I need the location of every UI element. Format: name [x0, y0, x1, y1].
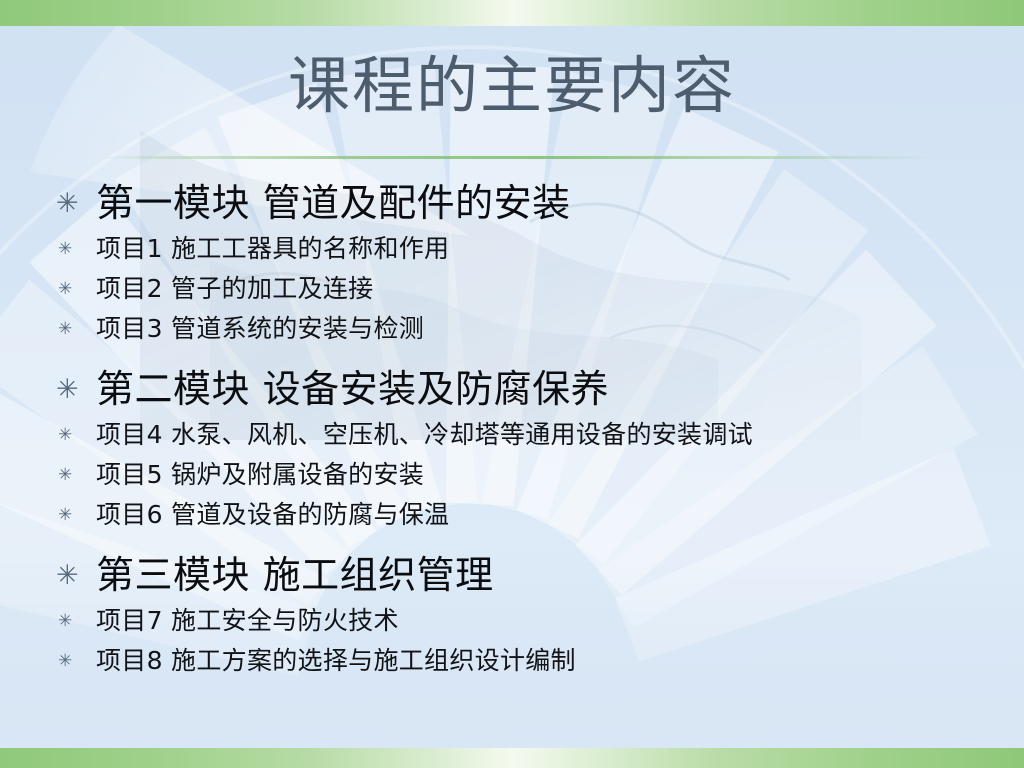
asterisk-bullet-icon: ✳ — [58, 653, 96, 670]
asterisk-bullet-icon: ✳ — [58, 281, 96, 298]
project-item-text: 项目7 施工安全与防火技术 — [96, 602, 399, 640]
asterisk-bullet-icon: ✳ — [58, 467, 96, 484]
project-item-text: 项目6 管道及设备的防腐与保温 — [96, 496, 449, 534]
module-heading-text: 第二模块 设备安装及防腐保养 — [96, 364, 609, 414]
project-item-text: 项目3 管道系统的安装与检测 — [96, 310, 424, 348]
project-item-text: 项目5 锅炉及附属设备的安装 — [96, 456, 424, 494]
project-item-row[interactable]: ✳ 项目5 锅炉及附属设备的安装 — [0, 456, 1024, 496]
module-heading-text: 第一模块 管道及配件的安装 — [96, 178, 571, 228]
module-heading-text: 第三模块 施工组织管理 — [96, 550, 494, 600]
outline-list: ✳ 第一模块 管道及配件的安装 ✳ 项目1 施工工器具的名称和作用 ✳ 项目2 … — [0, 178, 1024, 682]
asterisk-bullet-icon: ✳ — [58, 241, 96, 258]
project-item-row[interactable]: ✳ 项目4 水泵、风机、空压机、冷却塔等通用设备的安装调试 — [0, 416, 1024, 456]
project-item-row[interactable]: ✳ 项目2 管子的加工及连接 — [0, 270, 1024, 310]
asterisk-bullet-icon: ✳ — [58, 427, 96, 444]
project-item-row[interactable]: ✳ 项目8 施工方案的选择与施工组织设计编制 — [0, 642, 1024, 682]
project-item-row[interactable]: ✳ 项目7 施工安全与防火技术 — [0, 602, 1024, 642]
asterisk-bullet-icon: ✳ — [56, 376, 96, 403]
project-item-row[interactable]: ✳ 项目3 管道系统的安装与检测 — [0, 310, 1024, 350]
module-heading-row[interactable]: ✳ 第三模块 施工组织管理 — [0, 550, 1024, 602]
module-heading-row[interactable]: ✳ 第一模块 管道及配件的安装 — [0, 178, 1024, 230]
group-spacer — [0, 536, 1024, 550]
slide-title: 课程的主要内容 — [0, 46, 1024, 126]
project-item-text: 项目4 水泵、风机、空压机、冷却塔等通用设备的安装调试 — [96, 416, 753, 454]
group-spacer — [0, 350, 1024, 364]
asterisk-bullet-icon: ✳ — [56, 562, 96, 589]
project-item-row[interactable]: ✳ 项目6 管道及设备的防腐与保温 — [0, 496, 1024, 536]
asterisk-bullet-icon: ✳ — [58, 507, 96, 524]
asterisk-bullet-icon: ✳ — [58, 613, 96, 630]
project-item-text: 项目2 管子的加工及连接 — [96, 270, 373, 308]
presentation-slide: 课程的主要内容 ✳ 第一模块 管道及配件的安装 ✳ 项目1 施工工器具的名称和作… — [0, 0, 1024, 768]
asterisk-bullet-icon: ✳ — [56, 190, 96, 217]
top-green-band — [0, 0, 1024, 26]
title-divider — [96, 156, 938, 159]
module-group: ✳ 第一模块 管道及配件的安装 ✳ 项目1 施工工器具的名称和作用 ✳ 项目2 … — [0, 178, 1024, 350]
module-group: ✳ 第三模块 施工组织管理 ✳ 项目7 施工安全与防火技术 ✳ 项目8 施工方案… — [0, 550, 1024, 682]
project-item-text: 项目1 施工工器具的名称和作用 — [96, 230, 449, 268]
bottom-green-band — [0, 748, 1024, 768]
module-heading-row[interactable]: ✳ 第二模块 设备安装及防腐保养 — [0, 364, 1024, 416]
project-item-row[interactable]: ✳ 项目1 施工工器具的名称和作用 — [0, 230, 1024, 270]
module-group: ✳ 第二模块 设备安装及防腐保养 ✳ 项目4 水泵、风机、空压机、冷却塔等通用设… — [0, 364, 1024, 536]
project-item-text: 项目8 施工方案的选择与施工组织设计编制 — [96, 642, 576, 680]
asterisk-bullet-icon: ✳ — [58, 321, 96, 338]
